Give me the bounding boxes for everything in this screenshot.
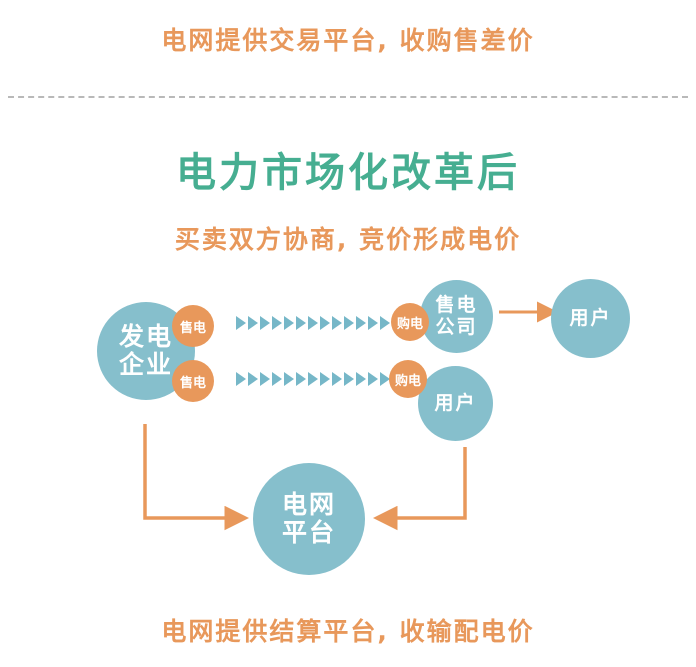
flow-triangle-icon: [344, 372, 354, 386]
node-label-line1: 售电: [435, 295, 477, 316]
flow-triangle-icon: [356, 372, 366, 386]
bottom-caption: 电网提供结算平台, 收输配电价: [0, 612, 696, 648]
flow-triangle-icon: [296, 316, 306, 330]
flow-triangle-icon: [236, 372, 246, 386]
flow-triangle-icon: [332, 372, 342, 386]
flow-triangle-icon: [248, 316, 258, 330]
diagram-canvas: 电网提供交易平台, 收购售差价 电力市场化改革后 买卖双方协商, 竞价形成电价: [0, 0, 696, 667]
flow-triangle-icon: [356, 316, 366, 330]
flow-triangle-icon: [320, 372, 330, 386]
node-label-line1: 电网: [282, 491, 336, 519]
badge-sell-electricity-2[interactable]: 售电: [172, 360, 214, 402]
node-retail-company[interactable]: 售电 公司: [420, 280, 493, 353]
node-label-line1: 用户: [434, 393, 476, 414]
badge-buy-electricity-1[interactable]: 购电: [391, 303, 429, 341]
page-title: 电力市场化改革后: [0, 140, 696, 198]
node-label-line2: 公司: [435, 317, 477, 338]
flow-triangle-icon: [380, 316, 390, 330]
node-grid-platform[interactable]: 电网 平台: [253, 463, 365, 575]
node-user-middle[interactable]: 用户: [418, 366, 493, 441]
flow-triangle-icon: [296, 372, 306, 386]
flow-triangle-icon: [344, 316, 354, 330]
flow-triangle-icon: [260, 372, 270, 386]
top-caption: 电网提供交易平台, 收购售差价: [0, 21, 696, 57]
flow-triangle-icon: [332, 316, 342, 330]
flow-arrow-row-bottom: [236, 372, 392, 386]
flow-arrow-row-top: [236, 316, 392, 330]
node-user-top[interactable]: 用户: [551, 279, 630, 358]
arrow-generator-to-grid: [145, 424, 228, 518]
node-label-line1: 发电: [119, 323, 173, 351]
flow-triangle-icon: [308, 372, 318, 386]
node-label-line2: 企业: [119, 351, 173, 379]
badge-buy-electricity-2[interactable]: 购电: [389, 360, 427, 398]
flow-triangle-icon: [248, 372, 258, 386]
flow-triangle-icon: [368, 316, 378, 330]
arrow-user-to-grid: [394, 447, 465, 518]
page-subtitle: 买卖双方协商, 竞价形成电价: [0, 220, 696, 256]
flow-triangle-icon: [308, 316, 318, 330]
badge-sell-electricity-1[interactable]: 售电: [172, 305, 214, 347]
flow-triangle-icon: [236, 316, 246, 330]
flow-triangle-icon: [260, 316, 270, 330]
flow-triangle-icon: [320, 316, 330, 330]
dashed-divider: [8, 96, 688, 98]
flow-triangle-icon: [272, 316, 282, 330]
flow-triangle-icon: [272, 372, 282, 386]
flow-triangle-icon: [368, 372, 378, 386]
flow-triangle-icon: [284, 316, 294, 330]
flow-triangle-icon: [284, 372, 294, 386]
node-label-line2: 平台: [282, 519, 336, 547]
node-label-line1: 用户: [569, 308, 611, 329]
